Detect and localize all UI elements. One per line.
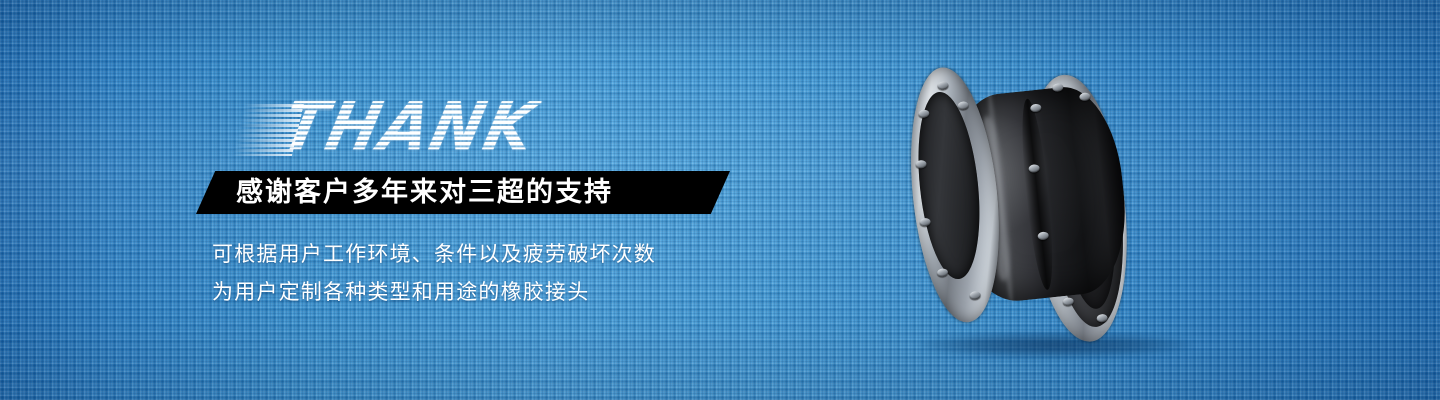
- product-image-rubber-expansion-joint: DN200: [900, 45, 1200, 355]
- headline-thank: THANK: [276, 94, 543, 160]
- headline-wrapper: THANK THANK: [276, 98, 528, 160]
- product-inner: DN200: [885, 30, 1216, 370]
- subline-2: 为用户定制各种类型和用途的橡胶接头: [212, 276, 589, 306]
- ribbon-tagline: 感谢客户多年来对三超的支持: [236, 171, 613, 214]
- promo-banner: THANK THANK 感谢客户多年来对三超的支持 可根据用户工作环境、条件以及…: [0, 0, 1440, 400]
- banner-copy-block: THANK THANK 感谢客户多年来对三超的支持 可根据用户工作环境、条件以及…: [0, 0, 780, 400]
- subline-1: 可根据用户工作环境、条件以及疲劳破坏次数: [212, 238, 656, 268]
- bellows-groove: [1016, 98, 1058, 291]
